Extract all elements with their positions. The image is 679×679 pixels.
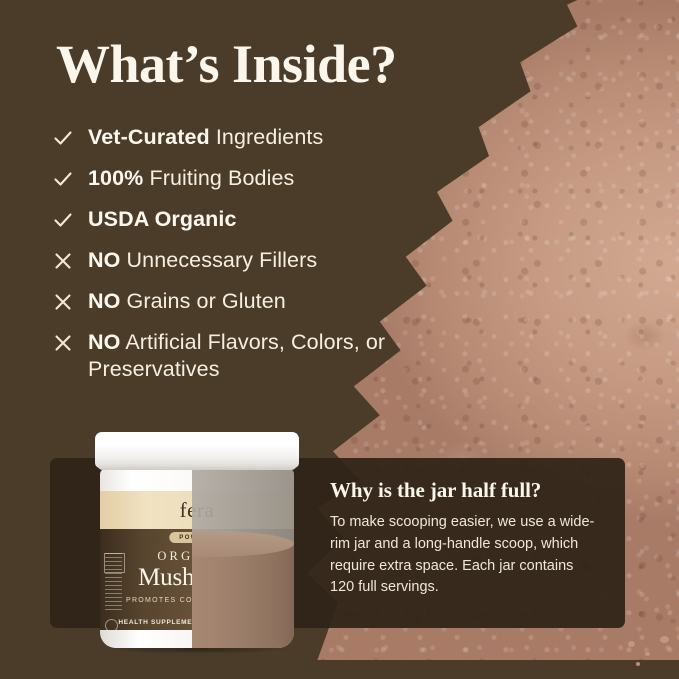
list-item-label: Vet-Curated Ingredients bbox=[88, 124, 323, 151]
list-item-label: USDA Organic bbox=[88, 206, 237, 233]
list-item-emphasis: Vet-Curated bbox=[88, 125, 210, 149]
powder-crumb bbox=[660, 636, 669, 643]
list-item-emphasis: USDA Organic bbox=[88, 207, 237, 231]
powder-crumb bbox=[628, 641, 635, 647]
page-title: What’s Inside? bbox=[56, 36, 397, 93]
info-card: Why is the jar half full? To make scoopi… bbox=[330, 478, 600, 599]
powder-crumb bbox=[636, 662, 640, 666]
list-item-emphasis: NO bbox=[88, 330, 120, 354]
list-item-rest: Grains or Gluten bbox=[120, 289, 285, 313]
list-item-rest: Fruiting Bodies bbox=[143, 166, 294, 190]
list-item: NO Artificial Flavors, Colors, or Preser… bbox=[52, 329, 482, 383]
jar-cutaway bbox=[192, 469, 294, 648]
powder-crumb bbox=[645, 652, 650, 656]
powder-fill-surface bbox=[192, 531, 294, 557]
list-item-label: NO Unnecessary Fillers bbox=[88, 247, 317, 274]
list-item-emphasis: NO bbox=[88, 289, 120, 313]
list-item: 100% Fruiting Bodies bbox=[52, 165, 482, 192]
list-item: Vet-Curated Ingredients bbox=[52, 124, 482, 151]
product-infographic: What’s Inside? Vet-Curated Ingredients 1… bbox=[0, 0, 679, 679]
check-icon bbox=[52, 209, 74, 233]
list-item-emphasis: NO bbox=[88, 248, 120, 272]
list-item-rest: Unnecessary Fillers bbox=[120, 248, 317, 272]
powder-fill-level bbox=[192, 544, 294, 648]
list-item: NO Unnecessary Fillers bbox=[52, 247, 482, 274]
list-item-emphasis: 100% bbox=[88, 166, 143, 190]
check-icon bbox=[52, 168, 74, 192]
list-item-label: NO Artificial Flavors, Colors, or Preser… bbox=[88, 329, 482, 383]
product-jar: fera POWDER ORGANIC Mushrooms PROMOTES C… bbox=[95, 430, 299, 650]
list-item: NO Grains or Gluten bbox=[52, 288, 482, 315]
list-item-rest: Ingredients bbox=[210, 125, 324, 149]
jar-lid-lip bbox=[97, 463, 297, 470]
benefits-list: Vet-Curated Ingredients 100% Fruiting Bo… bbox=[52, 124, 482, 397]
info-card-title: Why is the jar half full? bbox=[330, 478, 600, 503]
list-item-label: NO Grains or Gluten bbox=[88, 288, 286, 315]
cross-icon bbox=[52, 291, 74, 315]
cross-icon bbox=[52, 250, 74, 274]
cross-icon bbox=[52, 332, 74, 356]
list-item: USDA Organic bbox=[52, 206, 482, 233]
info-card-body: To make scooping easier, we use a wide-r… bbox=[330, 512, 600, 599]
check-icon bbox=[52, 127, 74, 151]
list-item-rest: Artificial Flavors, Colors, or Preservat… bbox=[88, 330, 385, 381]
list-item-label: 100% Fruiting Bodies bbox=[88, 165, 294, 192]
